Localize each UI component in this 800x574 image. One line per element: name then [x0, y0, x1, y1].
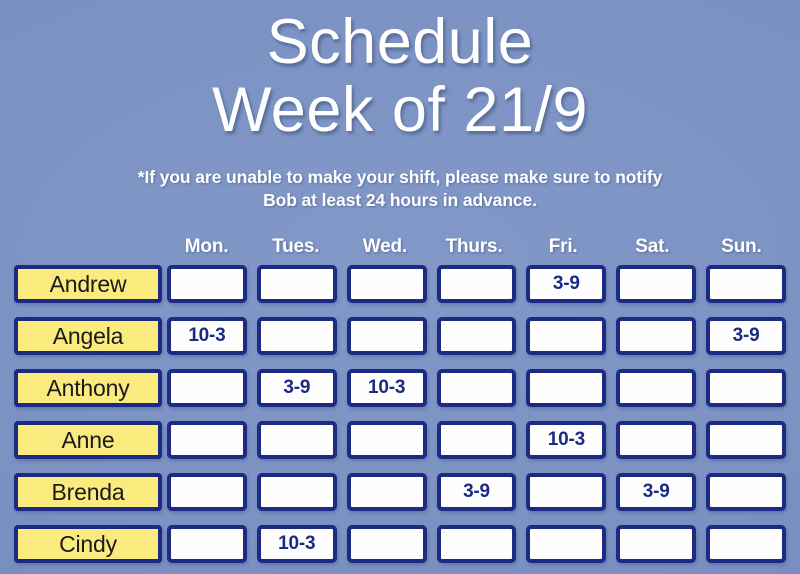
shift-cell-fri[interactable] [526, 525, 606, 563]
shift-cell-thurs[interactable] [437, 317, 517, 355]
shift-cell-sat[interactable] [616, 525, 696, 563]
note-line-1: *If you are unable to make your shift, p… [48, 166, 752, 189]
employee-name-cell[interactable]: Anne [14, 421, 162, 459]
shift-cell-mon[interactable] [167, 421, 247, 459]
shift-cell-mon[interactable] [167, 265, 247, 303]
employee-name-cell[interactable]: Cindy [14, 525, 162, 563]
shift-cell-thurs[interactable] [437, 525, 517, 563]
table-row: Anne 10-3 [0, 414, 800, 466]
shift-cell-sun[interactable] [706, 473, 786, 511]
shift-cell-wed[interactable] [347, 265, 427, 303]
shift-cell-sat[interactable]: 3-9 [616, 473, 696, 511]
page-title-line-2: Week of 21/9 [0, 76, 800, 144]
shift-cell-thurs[interactable] [437, 265, 517, 303]
page-title-line-1: Schedule [0, 8, 800, 76]
shift-cell-wed[interactable] [347, 473, 427, 511]
shift-cell-fri[interactable]: 3-9 [526, 265, 606, 303]
shift-cell-sun[interactable] [706, 525, 786, 563]
day-header-sun: Sun. [697, 236, 786, 258]
shift-cell-sat[interactable] [616, 369, 696, 407]
day-header-tues: Tues. [251, 236, 340, 258]
schedule-table: Mon. Tues. Wed. Thurs. Fri. Sat. Sun. An… [0, 228, 800, 570]
shift-cell-tues[interactable] [257, 265, 337, 303]
employee-name-cell[interactable]: Angela [14, 317, 162, 355]
shift-cell-thurs[interactable] [437, 421, 517, 459]
shift-cell-sun[interactable] [706, 369, 786, 407]
shift-cell-sat[interactable] [616, 265, 696, 303]
table-row: Brenda 3-9 3-9 [0, 466, 800, 518]
table-row: Anthony 3-9 10-3 [0, 362, 800, 414]
shift-cell-tues[interactable]: 10-3 [257, 525, 337, 563]
shift-cell-mon[interactable]: 10-3 [167, 317, 247, 355]
shift-policy-note: *If you are unable to make your shift, p… [0, 166, 800, 212]
shift-cell-sun[interactable]: 3-9 [706, 317, 786, 355]
table-row: Angela 10-3 3-9 [0, 310, 800, 362]
shift-cell-tues[interactable] [257, 421, 337, 459]
shift-cell-fri[interactable]: 10-3 [526, 421, 606, 459]
day-header-sat: Sat. [608, 236, 697, 258]
shift-cell-mon[interactable] [167, 525, 247, 563]
shift-cell-fri[interactable] [526, 473, 606, 511]
table-row: Andrew 3-9 [0, 258, 800, 310]
day-header-wed: Wed. [340, 236, 429, 258]
shift-cell-thurs[interactable]: 3-9 [437, 473, 517, 511]
shift-cell-sun[interactable] [706, 265, 786, 303]
shift-cell-sat[interactable] [616, 317, 696, 355]
shift-cell-sun[interactable] [706, 421, 786, 459]
shift-cell-fri[interactable] [526, 369, 606, 407]
employee-name-cell[interactable]: Anthony [14, 369, 162, 407]
shift-cell-mon[interactable] [167, 473, 247, 511]
shift-cell-sat[interactable] [616, 421, 696, 459]
employee-name-cell[interactable]: Brenda [14, 473, 162, 511]
note-line-2: Bob at least 24 hours in advance. [48, 189, 752, 212]
shift-cell-thurs[interactable] [437, 369, 517, 407]
employee-name-cell[interactable]: Andrew [14, 265, 162, 303]
title-block: Schedule Week of 21/9 [0, 0, 800, 144]
shift-cell-tues[interactable] [257, 317, 337, 355]
schedule-poster: Schedule Week of 21/9 *If you are unable… [0, 0, 800, 574]
shift-cell-wed[interactable] [347, 421, 427, 459]
shift-cell-fri[interactable] [526, 317, 606, 355]
day-header-row: Mon. Tues. Wed. Thurs. Fri. Sat. Sun. [0, 228, 800, 258]
day-header-mon: Mon. [162, 236, 251, 258]
shift-cell-tues[interactable]: 3-9 [257, 369, 337, 407]
shift-cell-tues[interactable] [257, 473, 337, 511]
day-header-thurs: Thurs. [429, 236, 518, 258]
shift-cell-mon[interactable] [167, 369, 247, 407]
shift-cell-wed[interactable] [347, 525, 427, 563]
day-header-fri: Fri. [519, 236, 608, 258]
table-row: Cindy 10-3 [0, 518, 800, 570]
shift-cell-wed[interactable]: 10-3 [347, 369, 427, 407]
day-header-cells: Mon. Tues. Wed. Thurs. Fri. Sat. Sun. [162, 236, 786, 258]
shift-cell-wed[interactable] [347, 317, 427, 355]
